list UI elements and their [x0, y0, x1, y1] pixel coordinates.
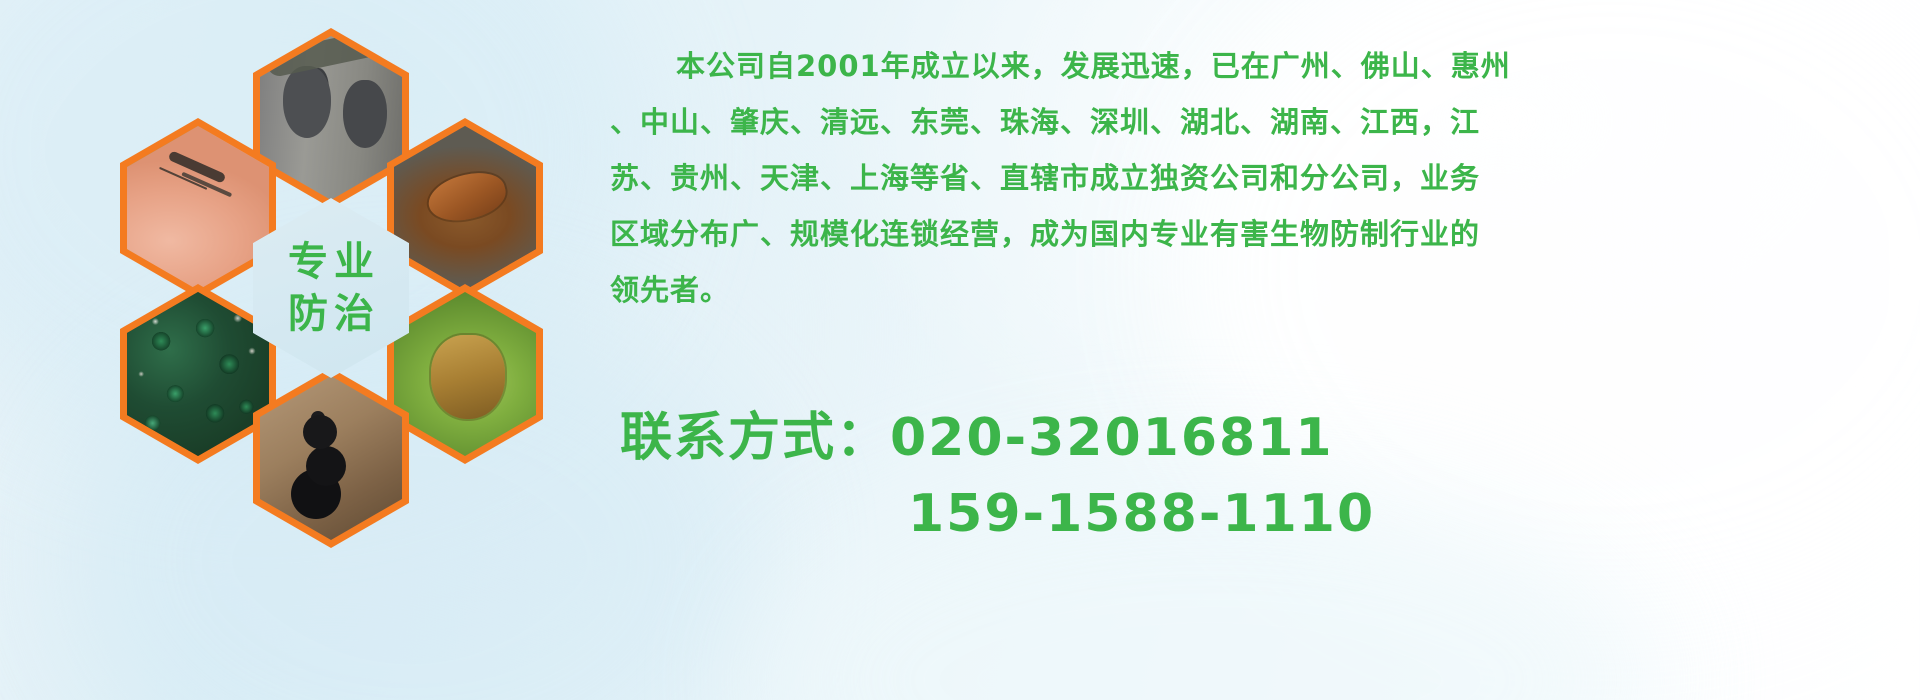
intro-line-4: 区域分布广、规模化连锁经营，成为国内专业有害生物防制行业的 — [610, 206, 1870, 262]
hex-cell-stink-bug — [387, 284, 543, 464]
contact-block: 联系方式：020-32016811 159-1588-1110 — [620, 400, 1375, 552]
intro-line-5: 领先者。 — [610, 262, 1870, 318]
slogan-line-2: 防治 — [282, 291, 380, 337]
intro-line-3: 苏、贵州、天津、上海等省、直辖市成立独资公司和分公司，业务 — [610, 150, 1870, 206]
hex-cell-center-slogan: 专业 防治 — [253, 198, 409, 378]
hex-cell-flies — [120, 284, 276, 464]
cockroach-photo-icon — [394, 126, 536, 290]
mosquito-photo-icon — [127, 126, 269, 290]
contact-phone-landline[interactable]: 联系方式：020-32016811 — [620, 400, 1375, 476]
hex-cell-cockroach — [387, 118, 543, 298]
rats-photo-icon — [260, 36, 402, 200]
flies-photo-icon — [127, 292, 269, 456]
hex-cell-rats — [253, 28, 409, 208]
company-intro-paragraph: 本公司自2001年成立以来，发展迅速，已在广州、佛山、惠州 、中山、肇庆、清远、… — [610, 38, 1870, 318]
contact-phone-mobile[interactable]: 159-1588-1110 — [620, 476, 1375, 552]
intro-line-1: 本公司自2001年成立以来，发展迅速，已在广州、佛山、惠州 — [610, 38, 1870, 94]
ant-photo-icon — [260, 376, 402, 540]
hexagon-image-cluster: 专业 防治 — [90, 10, 590, 570]
intro-line-2: 、中山、肇庆、清远、东莞、珠海、深圳、湖北、湖南、江西，江 — [610, 94, 1870, 150]
hex-cell-ant — [253, 368, 409, 548]
slogan-line-1: 专业 — [282, 239, 380, 285]
hex-cell-mosquito — [120, 118, 276, 298]
stink-bug-photo-icon — [394, 292, 536, 456]
